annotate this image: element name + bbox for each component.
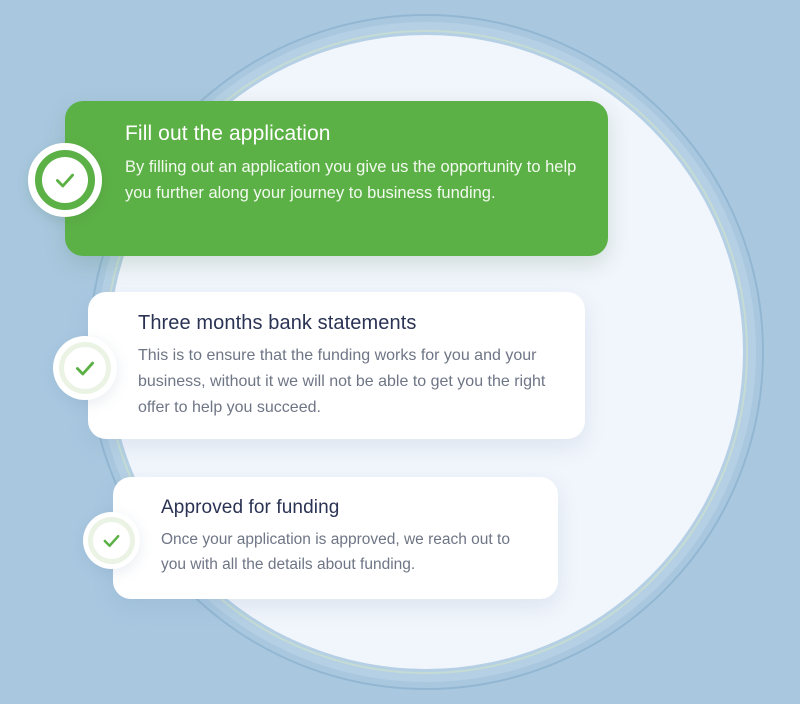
check-circle-icon [59, 342, 111, 394]
check-circle-icon [88, 517, 135, 564]
step-title: Approved for funding [161, 495, 532, 520]
step-check-badge-2 [53, 336, 117, 400]
step-description: This is to ensure that the funding works… [138, 343, 559, 421]
step-description: By filling out an application you give u… [125, 154, 580, 206]
step-title: Three months bank statements [138, 310, 559, 336]
step-card-fill-out-the-application[interactable]: Fill out the application By filling out … [65, 101, 608, 256]
step-title: Fill out the application [125, 121, 580, 147]
steps-illustration: Fill out the application By filling out … [0, 0, 800, 704]
step-card-three-months-bank-statements[interactable]: Three months bank statements This is to … [88, 292, 585, 439]
step-description: Once your application is approved, we re… [161, 527, 532, 577]
step-card-approved-for-funding[interactable]: Approved for funding Once your applicati… [113, 477, 558, 599]
check-circle-icon [42, 157, 88, 203]
step-check-badge-3 [83, 512, 140, 569]
step-check-badge-1 [28, 143, 102, 217]
